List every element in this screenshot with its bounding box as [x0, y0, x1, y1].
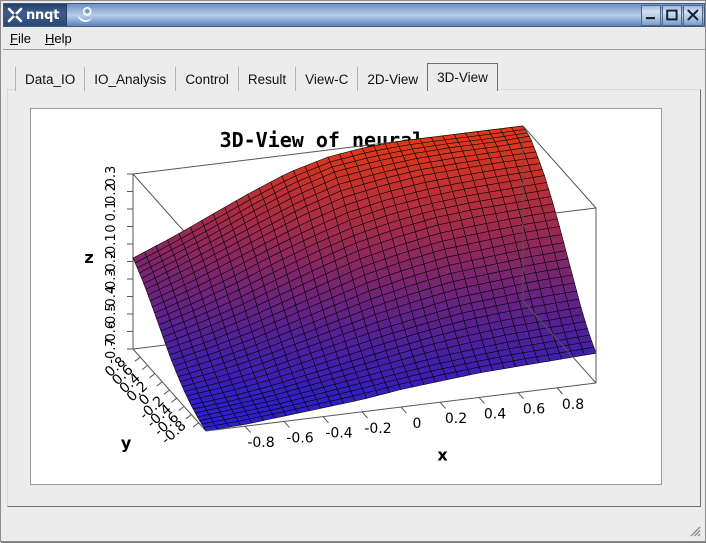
- surface-plot: 3D-View of neural net -0.8-0.6-0.4-0.200…: [31, 109, 661, 484]
- minimize-button[interactable]: [641, 5, 661, 26]
- title-bar-identity: nnqt: [4, 4, 67, 26]
- tick-label: 0: [104, 224, 119, 232]
- tab-label: 3D-View: [437, 70, 488, 85]
- tab-label: Result: [248, 72, 286, 87]
- tick-label: 0.2: [445, 411, 467, 427]
- tab-2d-view[interactable]: 2D-View: [357, 66, 428, 91]
- close-button[interactable]: [683, 5, 703, 26]
- resize-grip[interactable]: [686, 522, 701, 537]
- title-bar[interactable]: nnqt: [3, 3, 705, 27]
- maximize-button[interactable]: [662, 5, 682, 26]
- tick-label: -0.6: [286, 430, 313, 446]
- tab-io-analysis[interactable]: IO_Analysis: [84, 66, 176, 91]
- window-title: nnqt: [26, 9, 59, 22]
- menu-file[interactable]: File: [3, 29, 38, 48]
- menu-help-mnemonic: H: [45, 31, 54, 46]
- tick-label: -0.7: [104, 338, 119, 363]
- tab-view-c[interactable]: View-C: [295, 66, 358, 91]
- tab-3d-view[interactable]: 3D-View: [427, 63, 498, 91]
- menu-file-label: ile: [18, 31, 31, 46]
- x-logo-icon: [7, 7, 23, 23]
- tick-label: 0.1: [104, 201, 119, 222]
- tab-bar: Data_IO IO_Analysis Control Result View-…: [15, 63, 498, 91]
- tick-label: -0.8: [247, 435, 274, 451]
- tick-label: 0.6: [523, 402, 545, 418]
- tick-label: 0.8: [562, 397, 584, 413]
- tab-control[interactable]: Control: [175, 66, 239, 91]
- plot-canvas[interactable]: 3D-View of neural net -0.8-0.6-0.4-0.200…: [30, 108, 662, 485]
- tab-result[interactable]: Result: [238, 66, 296, 91]
- application-window: nnqt File Help Data_IO I: [0, 0, 706, 542]
- window-controls: [640, 4, 704, 26]
- tick-label: -0.4: [325, 426, 352, 442]
- tick-label: 0.4: [484, 406, 506, 422]
- menu-help[interactable]: Help: [38, 29, 79, 48]
- swirl-logo-icon: [75, 5, 95, 25]
- tab-label: IO_Analysis: [94, 72, 166, 87]
- tick-label: -0.2: [364, 421, 391, 437]
- z-axis-label: z: [84, 248, 93, 267]
- menu-bar: File Help: [3, 28, 705, 50]
- tab-data-io[interactable]: Data_IO: [15, 66, 85, 91]
- tick-label: 0: [413, 416, 422, 432]
- tab-label: Data_IO: [25, 72, 75, 87]
- menu-file-mnemonic: F: [10, 31, 18, 46]
- tab-page-3d-view: 3D-View of neural net -0.8-0.6-0.4-0.200…: [7, 89, 701, 507]
- menu-help-label: elp: [54, 31, 71, 46]
- y-axis-label: y: [121, 433, 132, 452]
- x-axis-label: x: [437, 446, 448, 465]
- tab-label: Control: [185, 72, 229, 87]
- tab-label: 2D-View: [367, 72, 418, 87]
- tab-label: View-C: [305, 72, 348, 87]
